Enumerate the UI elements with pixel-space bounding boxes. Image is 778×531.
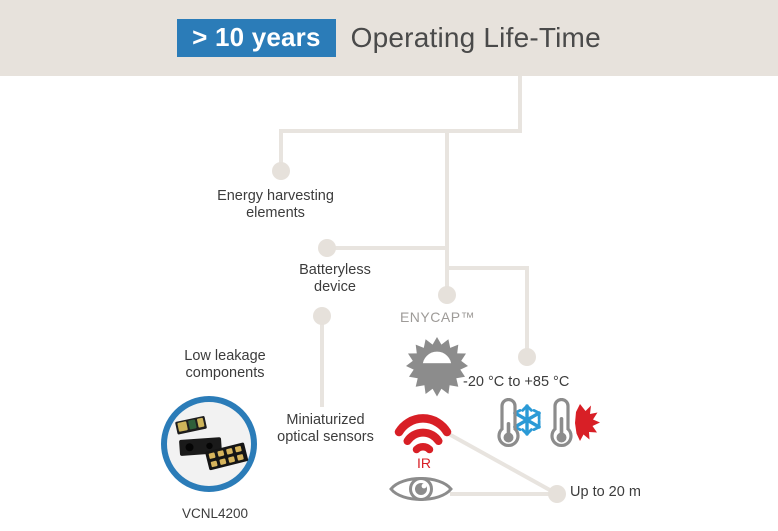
thermometer-cold-icon xyxy=(489,398,547,450)
node-dot-batteryless xyxy=(318,239,336,257)
label-low-leakage-components: Low leakage components xyxy=(140,348,310,382)
wire-trunk-to-energy xyxy=(281,76,520,165)
label-temperature-range: -20 °C to +85 °C xyxy=(463,374,611,391)
node-dot-energy-harvesting xyxy=(272,162,290,180)
label-enycap: ENYCAP™ xyxy=(385,309,490,326)
thermometer-hot-icon xyxy=(542,398,600,450)
node-dot-miniaturized xyxy=(313,307,331,325)
node-dot-range xyxy=(548,485,566,503)
infographic-canvas: > 10 years Operating Life-Time xyxy=(0,0,778,531)
label-detection-range: Up to 20 m xyxy=(570,484,700,501)
node-dot-temperature xyxy=(518,348,536,366)
eye-icon xyxy=(388,472,454,506)
ir-signal-icon xyxy=(392,408,454,454)
label-batteryless-device: Batteryless device xyxy=(260,262,410,296)
label-ir: IR xyxy=(404,455,444,472)
label-energy-harvesting: Energy harvesting elements xyxy=(193,188,358,222)
label-miniaturized-optical-sensors: Miniaturized optical sensors xyxy=(258,412,393,446)
label-part-number: VCNL4200 xyxy=(155,505,275,522)
sun-icon xyxy=(406,336,468,398)
node-dot-enycap xyxy=(438,286,456,304)
component-photo xyxy=(161,396,257,492)
